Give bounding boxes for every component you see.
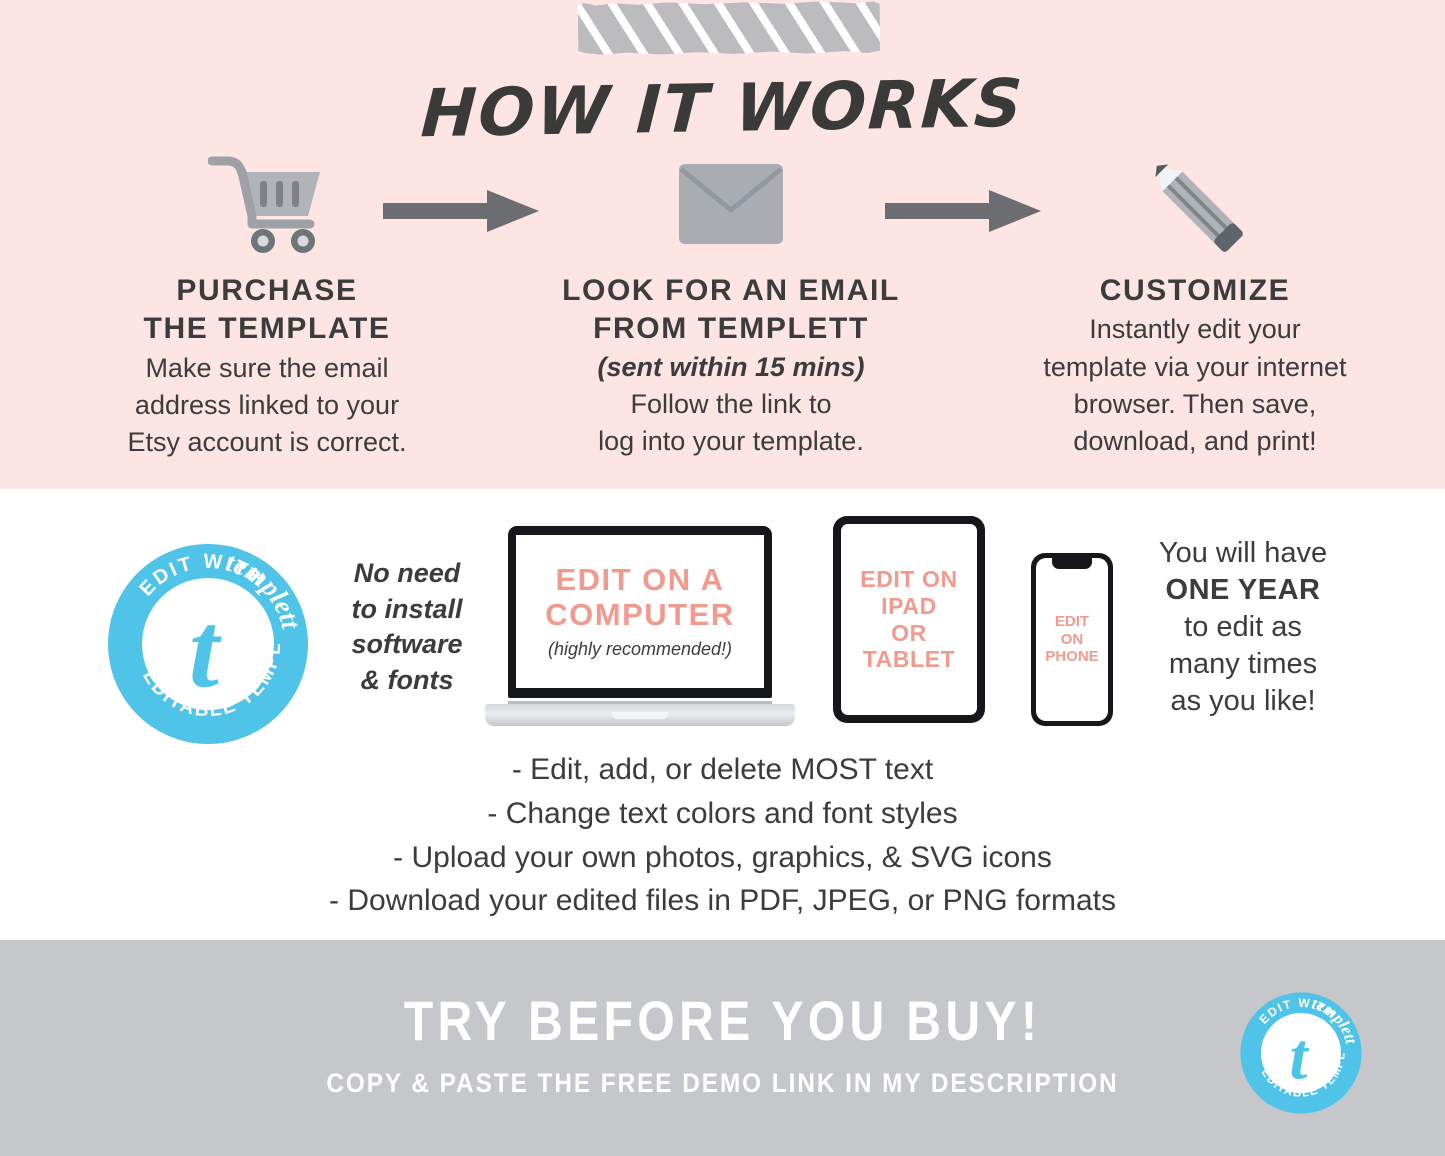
try-before-you-buy-banner: TRY BEFORE YOU BUY! COPY & PASTE THE FRE… (0, 940, 1445, 1156)
svg-text:t: t (1289, 1021, 1309, 1093)
shopping-cart-icon (72, 150, 462, 258)
one-year-line4: as you like! (1170, 685, 1315, 717)
tablet-screen-text: EDIT ON IPAD OR TABLET (860, 566, 957, 673)
one-year-line1: You will have (1159, 537, 1327, 569)
laptop-screen-title: EDIT ON A COMPUTER (545, 563, 734, 631)
tablet-mockup: EDIT ON IPAD OR TABLET (833, 516, 985, 723)
steps-row: PURCHASE THE TEMPLATE Make sure the emai… (0, 150, 1445, 462)
step-italic-note: (sent within 15 mins) (536, 350, 926, 385)
list-item: - Edit, add, or delete MOST text (0, 748, 1445, 792)
pencil-icon (1000, 150, 1390, 258)
infographic-page: HOW IT WORKS (0, 0, 1445, 1156)
list-item: - Change text colors and font styles (0, 792, 1445, 836)
step-body: Follow the link to log into your templat… (536, 386, 926, 461)
phone-mockup: EDIT ON PHONE (1031, 553, 1113, 726)
step-heading: LOOK FOR AN EMAIL FROM TEMPLETT (536, 272, 926, 349)
no-install-note: No need to install software & fonts (332, 556, 482, 699)
laptop-base (485, 704, 795, 726)
svg-text:t: t (189, 591, 222, 710)
laptop-screen-subtitle: (highly recommended!) (548, 639, 732, 660)
how-it-works-section: HOW IT WORKS (0, 0, 1445, 489)
templett-badge-icon: EDIT WITH templett EDITABLE TEMPLATE t (104, 540, 312, 748)
envelope-icon (536, 150, 926, 258)
phone-screen: EDIT ON PHONE (1036, 558, 1108, 721)
templett-badge-icon-footer: EDIT WITH templett EDITABLE TEMPLATE t (1238, 990, 1364, 1116)
page-title: HOW IT WORKS (0, 57, 1445, 159)
list-item: - Upload your own photos, graphics, & SV… (0, 836, 1445, 880)
step-heading: PURCHASE THE TEMPLATE (72, 272, 462, 349)
list-item: - Download your edited files in PDF, JPE… (0, 879, 1445, 923)
step-purchase: PURCHASE THE TEMPLATE Make sure the emai… (72, 150, 462, 462)
laptop-mockup: EDIT ON A COMPUTER (highly recommended!) (485, 526, 795, 726)
washi-tape-icon (578, 1, 880, 55)
one-year-line3: many times (1169, 648, 1317, 680)
step-body: Make sure the email address linked to yo… (72, 350, 462, 462)
step-body: Instantly edit your template via your in… (1000, 311, 1390, 460)
step-email: LOOK FOR AN EMAIL FROM TEMPLETT (sent wi… (536, 150, 926, 460)
one-year-highlight: ONE YEAR (1166, 574, 1321, 606)
phone-screen-text: EDIT ON PHONE (1045, 613, 1098, 666)
phone-notch (1052, 558, 1092, 569)
tablet-screen: EDIT ON IPAD OR TABLET (841, 524, 977, 715)
step-heading: CUSTOMIZE (1000, 272, 1390, 310)
step-customize: CUSTOMIZE Instantly edit your template v… (1000, 150, 1390, 460)
banner-subtitle: COPY & PASTE THE FREE DEMO LINK IN MY DE… (72, 1068, 1373, 1099)
one-year-note: You will have ONE YEAR to edit as many t… (1118, 535, 1368, 721)
laptop-lid: EDIT ON A COMPUTER (highly recommended!) (508, 526, 772, 698)
feature-bullets: - Edit, add, or delete MOST text - Chang… (0, 748, 1445, 923)
one-year-line2: to edit as (1184, 611, 1302, 643)
banner-title: TRY BEFORE YOU BUY! (101, 988, 1344, 1053)
laptop-screen: EDIT ON A COMPUTER (highly recommended!) (516, 535, 764, 688)
